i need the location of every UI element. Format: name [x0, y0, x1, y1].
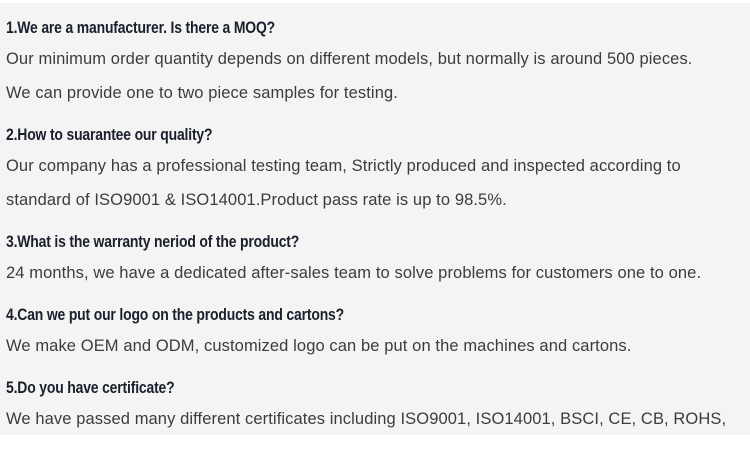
faq-question-2: 2.How to suarantee our quality? [6, 123, 613, 146]
faq-answer-1-line-1: Our minimum order quantity depends on di… [6, 42, 746, 76]
faq-item-2: 2.How to suarantee our quality? Our comp… [6, 123, 746, 217]
faq-panel: 1.We are a manufacturer. Is there a MOQ?… [0, 3, 750, 435]
faq-answer-2-line-2: standard of ISO9001 & ISO14001.Product p… [6, 183, 746, 217]
faq-answer-4-line-1: We make OEM and ODM, customized logo can… [6, 329, 746, 363]
faq-answer-2-line-1: Our company has a professional testing t… [6, 149, 746, 183]
faq-question-1: 1.We are a manufacturer. Is there a MOQ? [6, 16, 613, 39]
faq-answer-1-line-2: We can provide one to two piece samples … [6, 76, 746, 110]
faq-answer-3-line-1: 24 months, we have a dedicated after-sal… [6, 256, 746, 290]
faq-item-3: 3.What is the warranty neriod of the pro… [6, 230, 746, 290]
bottom-white-strip [0, 435, 750, 475]
faq-question-4: 4.Can we put our logo on the products an… [6, 303, 613, 326]
faq-question-3: 3.What is the warranty neriod of the pro… [6, 230, 613, 253]
faq-answer-5-line-1: We have passed many different certificat… [6, 402, 746, 436]
faq-item-1: 1.We are a manufacturer. Is there a MOQ?… [6, 16, 746, 110]
faq-item-4: 4.Can we put our logo on the products an… [6, 303, 746, 363]
faq-question-5: 5.Do you have certificate? [6, 376, 613, 399]
